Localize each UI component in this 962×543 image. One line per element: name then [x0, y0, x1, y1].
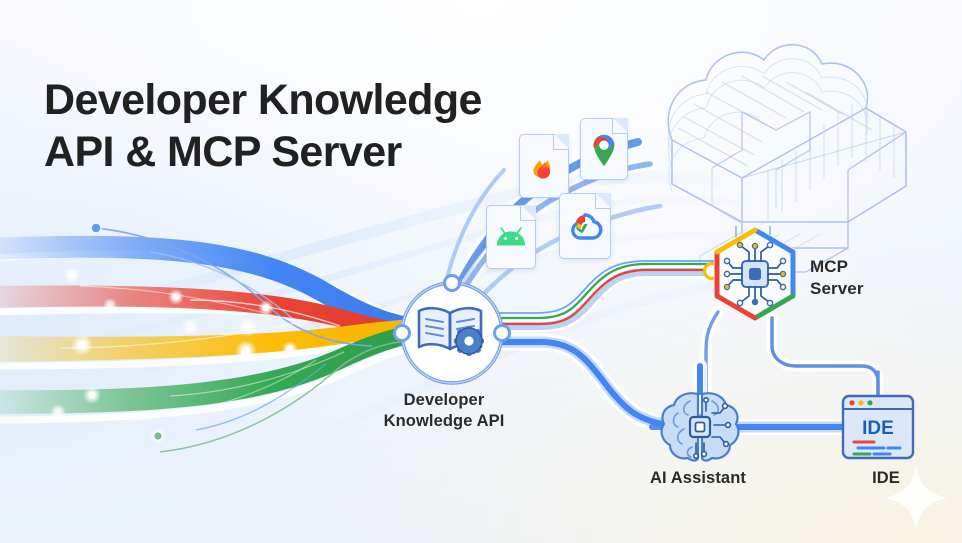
ide-label: IDE [826, 468, 946, 489]
api-node-label-line-2: Knowledge API [334, 411, 554, 432]
title-line-2: API & MCP Server [44, 126, 604, 178]
title-line-1: Developer Knowledge [44, 76, 482, 124]
mcp-node-label-line-2: Server [810, 278, 950, 300]
api-node-label-line-1: Developer [334, 390, 554, 411]
page-title: Developer Knowledge API & MCP Server [44, 74, 604, 179]
diagram-canvas: IDE Developer Knowledge API & MCP Server… [0, 0, 962, 543]
mcp-node-label-line-1: MCP [810, 256, 950, 278]
mcp-node-label: MCP Server [810, 256, 950, 300]
ai-assistant-label: AI Assistant [618, 468, 778, 489]
api-node-label: Developer Knowledge API [334, 390, 554, 432]
